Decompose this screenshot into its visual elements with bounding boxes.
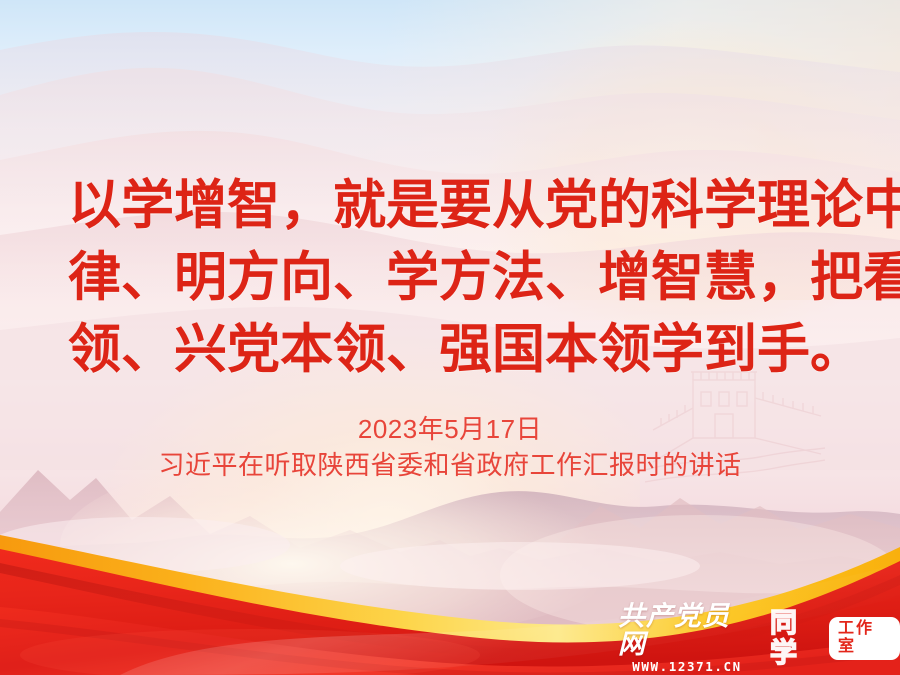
site-logo[interactable]: 共产党员网 WWW.12371.CN — [618, 602, 756, 674]
speech-source: 习近平在听取陕西省委和省政府工作汇报时的讲话 — [0, 446, 900, 484]
subtitle-block: 2023年5月17日 习近平在听取陕西省委和省政府工作汇报时的讲话 — [0, 412, 900, 484]
studio-logo[interactable]: 同学 工作室 — [770, 608, 900, 668]
headline-line-1: 以学增智，就是要从党的科学理论中悟规 — [68, 170, 858, 242]
site-name: 共产党员网 — [618, 602, 756, 658]
speech-date: 2023年5月17日 — [0, 412, 900, 446]
headline-line-2: 律、明方向、学方法、增智慧，把看家本 — [68, 242, 858, 314]
headline-line-3: 领、兴党本领、强国本领学到手。 — [68, 314, 858, 386]
studio-name: 同学 — [770, 608, 825, 668]
studio-badge: 工作室 — [829, 617, 900, 660]
poster-canvas: 以学增智，就是要从党的科学理论中悟规 律、明方向、学方法、增智慧，把看家本 领、… — [0, 0, 900, 675]
headline-quote: 以学增智，就是要从党的科学理论中悟规 律、明方向、学方法、增智慧，把看家本 领、… — [68, 170, 858, 386]
logo-lockup[interactable]: 共产党员网 WWW.12371.CN 同学 工作室 — [618, 612, 900, 664]
site-url: WWW.12371.CN — [632, 659, 742, 674]
